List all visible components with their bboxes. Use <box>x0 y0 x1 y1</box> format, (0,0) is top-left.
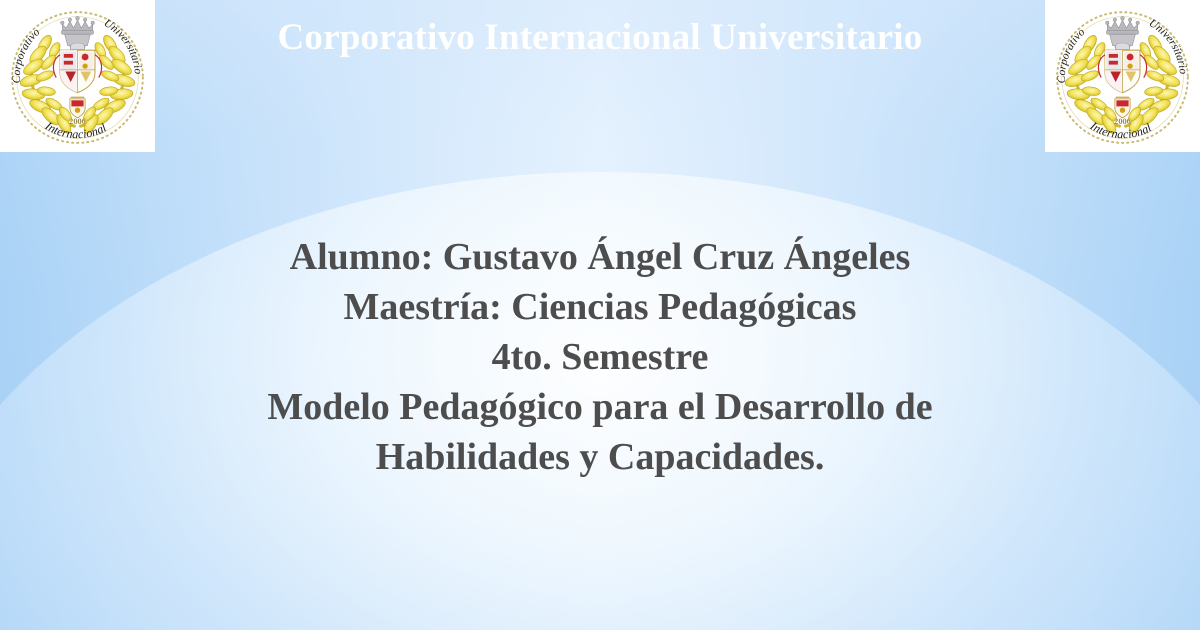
body-line-materia-2: Habilidades y Capacidades. <box>0 432 1200 482</box>
university-crest-icon: 2006 Corporativo Universitario Internaci… <box>1045 0 1200 152</box>
presentation-slide: 2006 Corporativo Universitario Internaci… <box>0 0 1200 630</box>
logo-left: 2006 Corporativo Universitario Internaci… <box>0 0 155 152</box>
body-line-alumno: Alumno: Gustavo Ángel Cruz Ángeles <box>0 232 1200 282</box>
body-line-materia-1: Modelo Pedagógico para el Desarrollo de <box>0 382 1200 432</box>
body-line-maestria: Maestría: Ciencias Pedagógicas <box>0 282 1200 332</box>
crest-year: 2006 <box>69 117 86 126</box>
slide-header-title: Corporativo Internacional Universitario <box>160 16 1040 60</box>
slide-body-text: Alumno: Gustavo Ángel Cruz Ángeles Maest… <box>0 232 1200 482</box>
logo-right: 2006 Corporativo Universitario Internaci… <box>1045 0 1200 152</box>
crest-year: 2006 <box>1114 117 1131 126</box>
body-line-semestre: 4to. Semestre <box>0 332 1200 382</box>
university-crest-icon: 2006 Corporativo Universitario Internaci… <box>0 0 155 152</box>
